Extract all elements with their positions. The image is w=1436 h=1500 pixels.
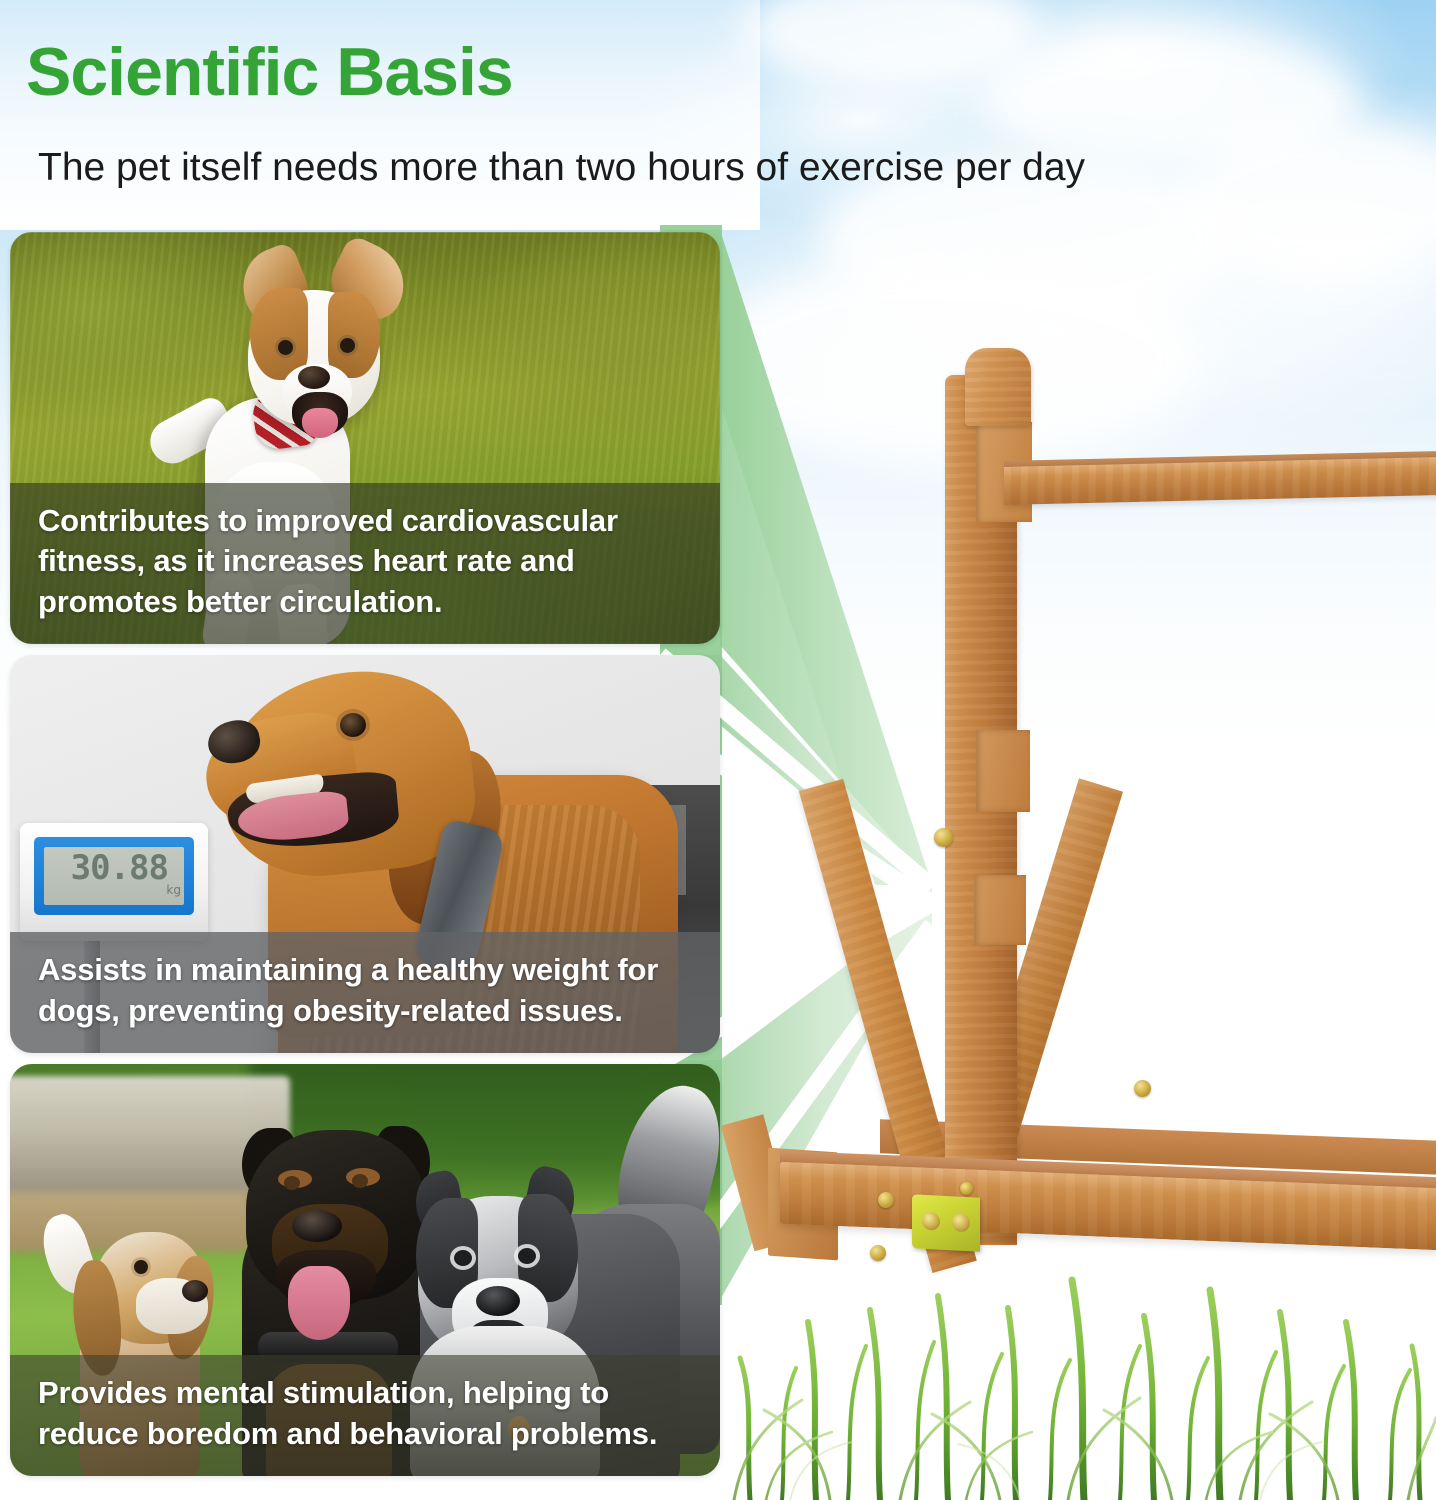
dog-eye-right xyxy=(340,338,355,353)
dog-face-patch-right xyxy=(328,292,380,378)
screw-icon xyxy=(1134,1080,1151,1097)
rottweiler-tongue xyxy=(288,1266,350,1340)
card-caption-healthy-weight: Assists in maintaining a healthy weight … xyxy=(10,932,720,1053)
screw-icon xyxy=(960,1182,973,1195)
infographic-root: Scientific Basis The pet itself needs mo… xyxy=(0,0,1436,1500)
digital-pet-scale: 30.88 kg xyxy=(20,823,208,941)
post-notch-lower xyxy=(974,875,1026,945)
post-notch-middle xyxy=(976,730,1030,812)
dog-nose xyxy=(298,366,330,389)
husky-eye-right xyxy=(518,1248,536,1264)
husky-nose xyxy=(476,1286,520,1316)
rottweiler-eye-right xyxy=(352,1174,368,1188)
benefit-card-cardiovascular[interactable]: Contributes to improved cardiovascular f… xyxy=(10,232,720,644)
dog-eye xyxy=(340,713,366,737)
rottweiler-nose xyxy=(292,1210,342,1242)
bracket-screw-icon xyxy=(952,1213,970,1232)
scale-weight-value: 30.88 xyxy=(71,851,168,885)
screw-icon xyxy=(878,1192,894,1208)
product-wooden-agility-jump[interactable] xyxy=(760,330,1436,1340)
post-rounded-cap xyxy=(965,348,1031,426)
beagle-nose xyxy=(182,1280,208,1302)
husky-eye-left xyxy=(454,1250,472,1266)
scale-lcd-screen: 30.88 kg xyxy=(44,847,184,905)
card-caption-mental-stimulation: Provides mental stimulation, helping to … xyxy=(10,1355,720,1476)
benefit-card-healthy-weight[interactable]: 30.88 kg Assists in maintaining a health… xyxy=(10,655,720,1053)
card-caption-cardiovascular: Contributes to improved cardiovascular f… xyxy=(10,483,720,644)
scale-weight-unit: kg xyxy=(166,883,181,897)
screw-icon xyxy=(934,828,953,847)
dog-eye-left xyxy=(278,340,293,355)
metal-corner-bracket xyxy=(912,1194,980,1252)
rottweiler-eye-left xyxy=(284,1176,300,1190)
beagle-eye xyxy=(134,1260,148,1274)
screw-icon xyxy=(870,1245,886,1261)
page-subtitle: The pet itself needs more than two hours… xyxy=(38,148,1085,187)
page-title: Scientific Basis xyxy=(26,38,513,106)
bracket-screw-icon xyxy=(922,1212,940,1231)
benefit-card-mental-stimulation[interactable]: Provides mental stimulation, helping to … xyxy=(10,1064,720,1476)
dog-tongue xyxy=(302,408,338,438)
scale-bezel: 30.88 kg xyxy=(34,837,194,915)
